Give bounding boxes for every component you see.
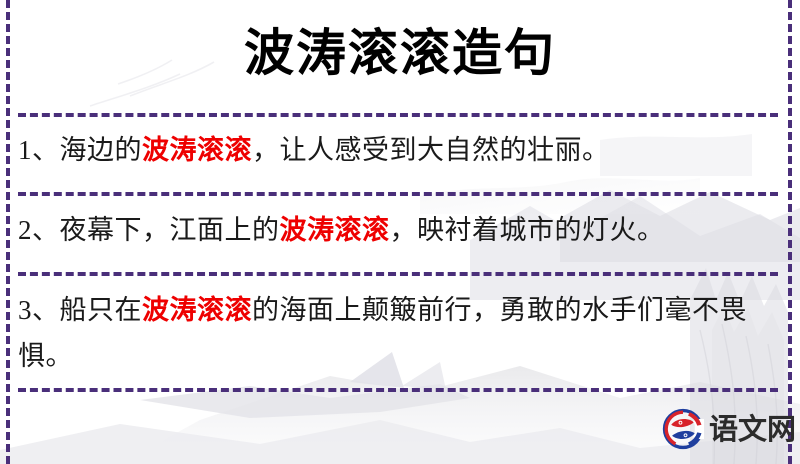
divider-4 [18,388,778,392]
divider-2 [18,192,778,196]
site-logo-text: 语文网 [709,414,796,444]
sentence-2-highlight: 波涛滚滚 [280,215,390,245]
yuwen-fish-circle-logo-icon [662,408,704,450]
divider-1 [18,113,778,117]
sentence-1-before: 海边的 [60,135,143,165]
sentence-2-before: 夜幕下，江面上的 [60,215,280,245]
site-logo[interactable]: 语文网 [662,408,796,450]
sentence-item-1: 1、海边的波涛滚滚，让人感受到大自然的壮丽。 [18,127,774,173]
sentence-2-number: 2、 [18,215,60,245]
divider-3 [18,272,778,276]
sentence-1-after: ，让人感受到大自然的壮丽。 [252,135,610,165]
page-title: 波涛滚滚造句 [0,22,800,84]
sentence-2-after: ，映衬着城市的灯火。 [390,215,665,245]
slide-page: 波涛滚滚造句 1、海边的波涛滚滚，让人感受到大自然的壮丽。 2、夜幕下，江面上的… [0,0,800,464]
sentence-3-number: 3、 [18,295,60,325]
sentence-3-highlight: 波涛滚滚 [142,295,252,325]
sentence-1-highlight: 波涛滚滚 [142,135,252,165]
sentence-1-number: 1、 [18,135,60,165]
sentence-item-2: 2、夜幕下，江面上的波涛滚滚，映衬着城市的灯火。 [18,207,774,253]
sentence-item-3: 3、船只在波涛滚滚的海面上颠簸前行，勇敢的水手们毫不畏惧。 [18,287,774,379]
sentence-3-before: 船只在 [60,295,143,325]
